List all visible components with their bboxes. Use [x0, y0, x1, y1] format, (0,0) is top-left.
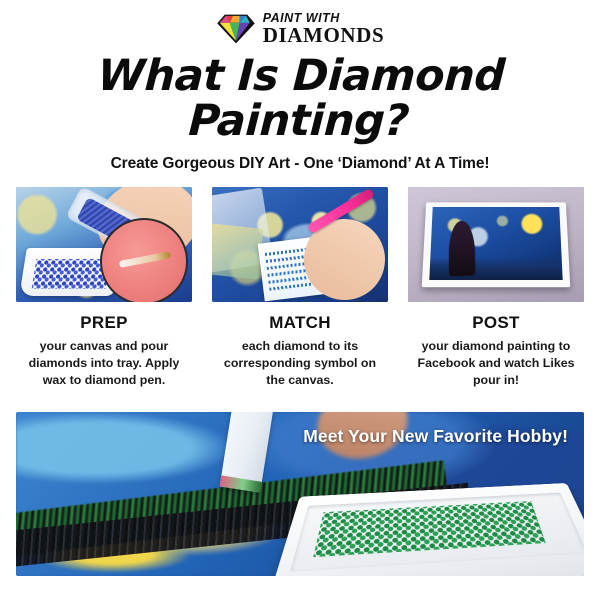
steps-row: PREP your canvas and pour diamonds into …	[0, 187, 600, 388]
step-body-prep: your canvas and pour diamonds into tray.…	[16, 338, 192, 388]
diamond-gem-icon	[216, 12, 256, 46]
step-image-prep	[16, 187, 192, 302]
step-card-match: MATCH each diamond to its corresponding …	[212, 187, 388, 388]
page-subtitle: Create Gorgeous DIY Art - One ‘Diamond’ …	[0, 155, 600, 173]
pen-closeup-inset	[100, 218, 188, 303]
step-card-post: POST your diamond painting to Facebook a…	[408, 187, 584, 388]
step-body-match: each diamond to its corresponding symbol…	[212, 338, 388, 388]
step-title-post: POST	[408, 313, 584, 333]
green-bead-tray	[268, 483, 584, 576]
brand-line-2: DIAMONDS	[263, 25, 384, 46]
step-body-post: your diamond painting to Facebook and wa…	[408, 338, 584, 388]
hero-banner[interactable]: Meet Your New Favorite Hobby!	[16, 412, 584, 576]
brand-logo[interactable]: PAINT WITH DIAMONDS	[0, 0, 600, 52]
page-title: What Is Diamond Painting?	[0, 54, 600, 144]
infographic-page: PAINT WITH DIAMONDS What Is Diamond Pain…	[0, 0, 600, 600]
step-card-prep: PREP your canvas and pour diamonds into …	[16, 187, 192, 388]
step-title-match: MATCH	[212, 313, 388, 333]
banner-title: Meet Your New Favorite Hobby!	[303, 426, 568, 447]
step-image-post	[408, 187, 584, 302]
step-title-prep: PREP	[16, 313, 192, 333]
step-image-match	[212, 187, 388, 302]
